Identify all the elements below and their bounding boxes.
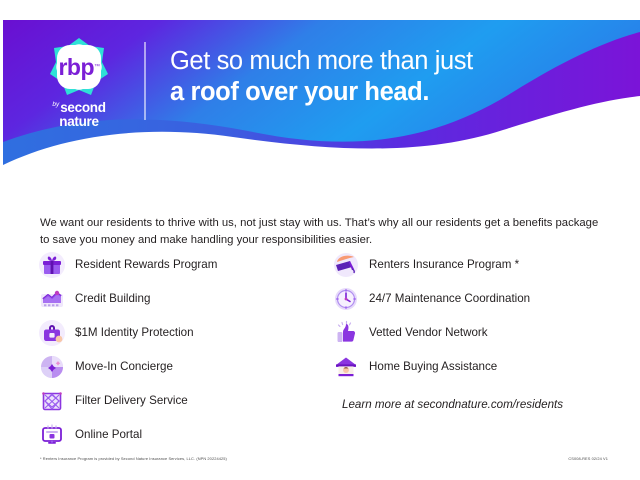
benefits-left-column: Resident Rewards Program Credit B	[38, 248, 314, 452]
briefcase-lock-icon	[38, 319, 66, 347]
benefit-label: Vetted Vendor Network	[369, 326, 488, 340]
benefit-item: $1M Identity Protection	[38, 316, 314, 350]
benefit-label: Renters Insurance Program *	[369, 258, 519, 272]
monitor-portal-icon	[38, 421, 66, 449]
umbrella-icon	[332, 251, 360, 279]
benefit-label: 24/7 Maintenance Coordination	[369, 292, 530, 306]
concierge-circle-icon	[38, 353, 66, 381]
air-filter-icon	[38, 387, 66, 415]
footer-disclaimer: * Renters Insurance Program is provided …	[40, 456, 227, 461]
flyer-page: rbp™ bysecond nature Get so much more th…	[0, 0, 640, 480]
rbp-logo: rbp™ bysecond nature	[36, 36, 122, 129]
credit-chart-icon	[38, 285, 66, 313]
benefit-item: 24/7 Maintenance Coordination	[332, 282, 608, 316]
benefit-item: Renters Insurance Program *	[332, 248, 608, 282]
logo-subtitle: bysecond nature	[36, 100, 122, 129]
benefit-item: Credit Building	[38, 282, 314, 316]
clock-icon	[332, 285, 360, 313]
benefit-item: Resident Rewards Program	[38, 248, 314, 282]
benefits-columns: Resident Rewards Program Credit B	[38, 248, 608, 452]
benefit-label: Resident Rewards Program	[75, 258, 217, 272]
gift-icon	[38, 251, 66, 279]
benefits-right-column: Renters Insurance Program * 24/7 Mainten…	[332, 248, 608, 452]
headline-line-2: a roof over your head.	[170, 77, 473, 108]
logo-divider	[144, 42, 146, 120]
thumbs-up-icon	[332, 319, 360, 347]
benefit-item: Online Portal	[38, 418, 314, 452]
headline-line-1: Get so much more than just	[170, 46, 473, 77]
logo-nature-text: nature	[36, 115, 122, 129]
logo-trademark: ™	[94, 64, 100, 70]
benefit-item: Home Buying Assistance	[332, 350, 608, 384]
logo-by-text: by	[52, 102, 59, 109]
logo-second-text: second	[60, 100, 105, 115]
benefit-label: Home Buying Assistance	[369, 360, 497, 374]
benefit-item: Vetted Vendor Network	[332, 316, 608, 350]
benefit-label: Online Portal	[75, 428, 142, 442]
benefit-label: Credit Building	[75, 292, 150, 306]
intro-paragraph: We want our residents to thrive with us,…	[40, 215, 600, 248]
house-icon	[332, 353, 360, 381]
logo-wordmark: rbp™	[48, 36, 110, 98]
logo-badge-shape: rbp™	[48, 36, 110, 98]
benefit-item: Move-In Concierge	[38, 350, 314, 384]
benefit-item: Filter Delivery Service	[38, 384, 314, 418]
learn-more-text[interactable]: Learn more at secondnature.com/residents	[342, 398, 608, 411]
footer-doc-code: CS008-RES 02/24 V1	[568, 456, 608, 461]
hero-banner: rbp™ bysecond nature Get so much more th…	[3, 20, 640, 185]
logo-mark-text: rbp	[58, 56, 94, 79]
benefit-label: Move-In Concierge	[75, 360, 173, 374]
benefit-label: Filter Delivery Service	[75, 394, 188, 408]
hero-headline: Get so much more than just a roof over y…	[170, 46, 473, 108]
benefit-label: $1M Identity Protection	[75, 326, 194, 340]
